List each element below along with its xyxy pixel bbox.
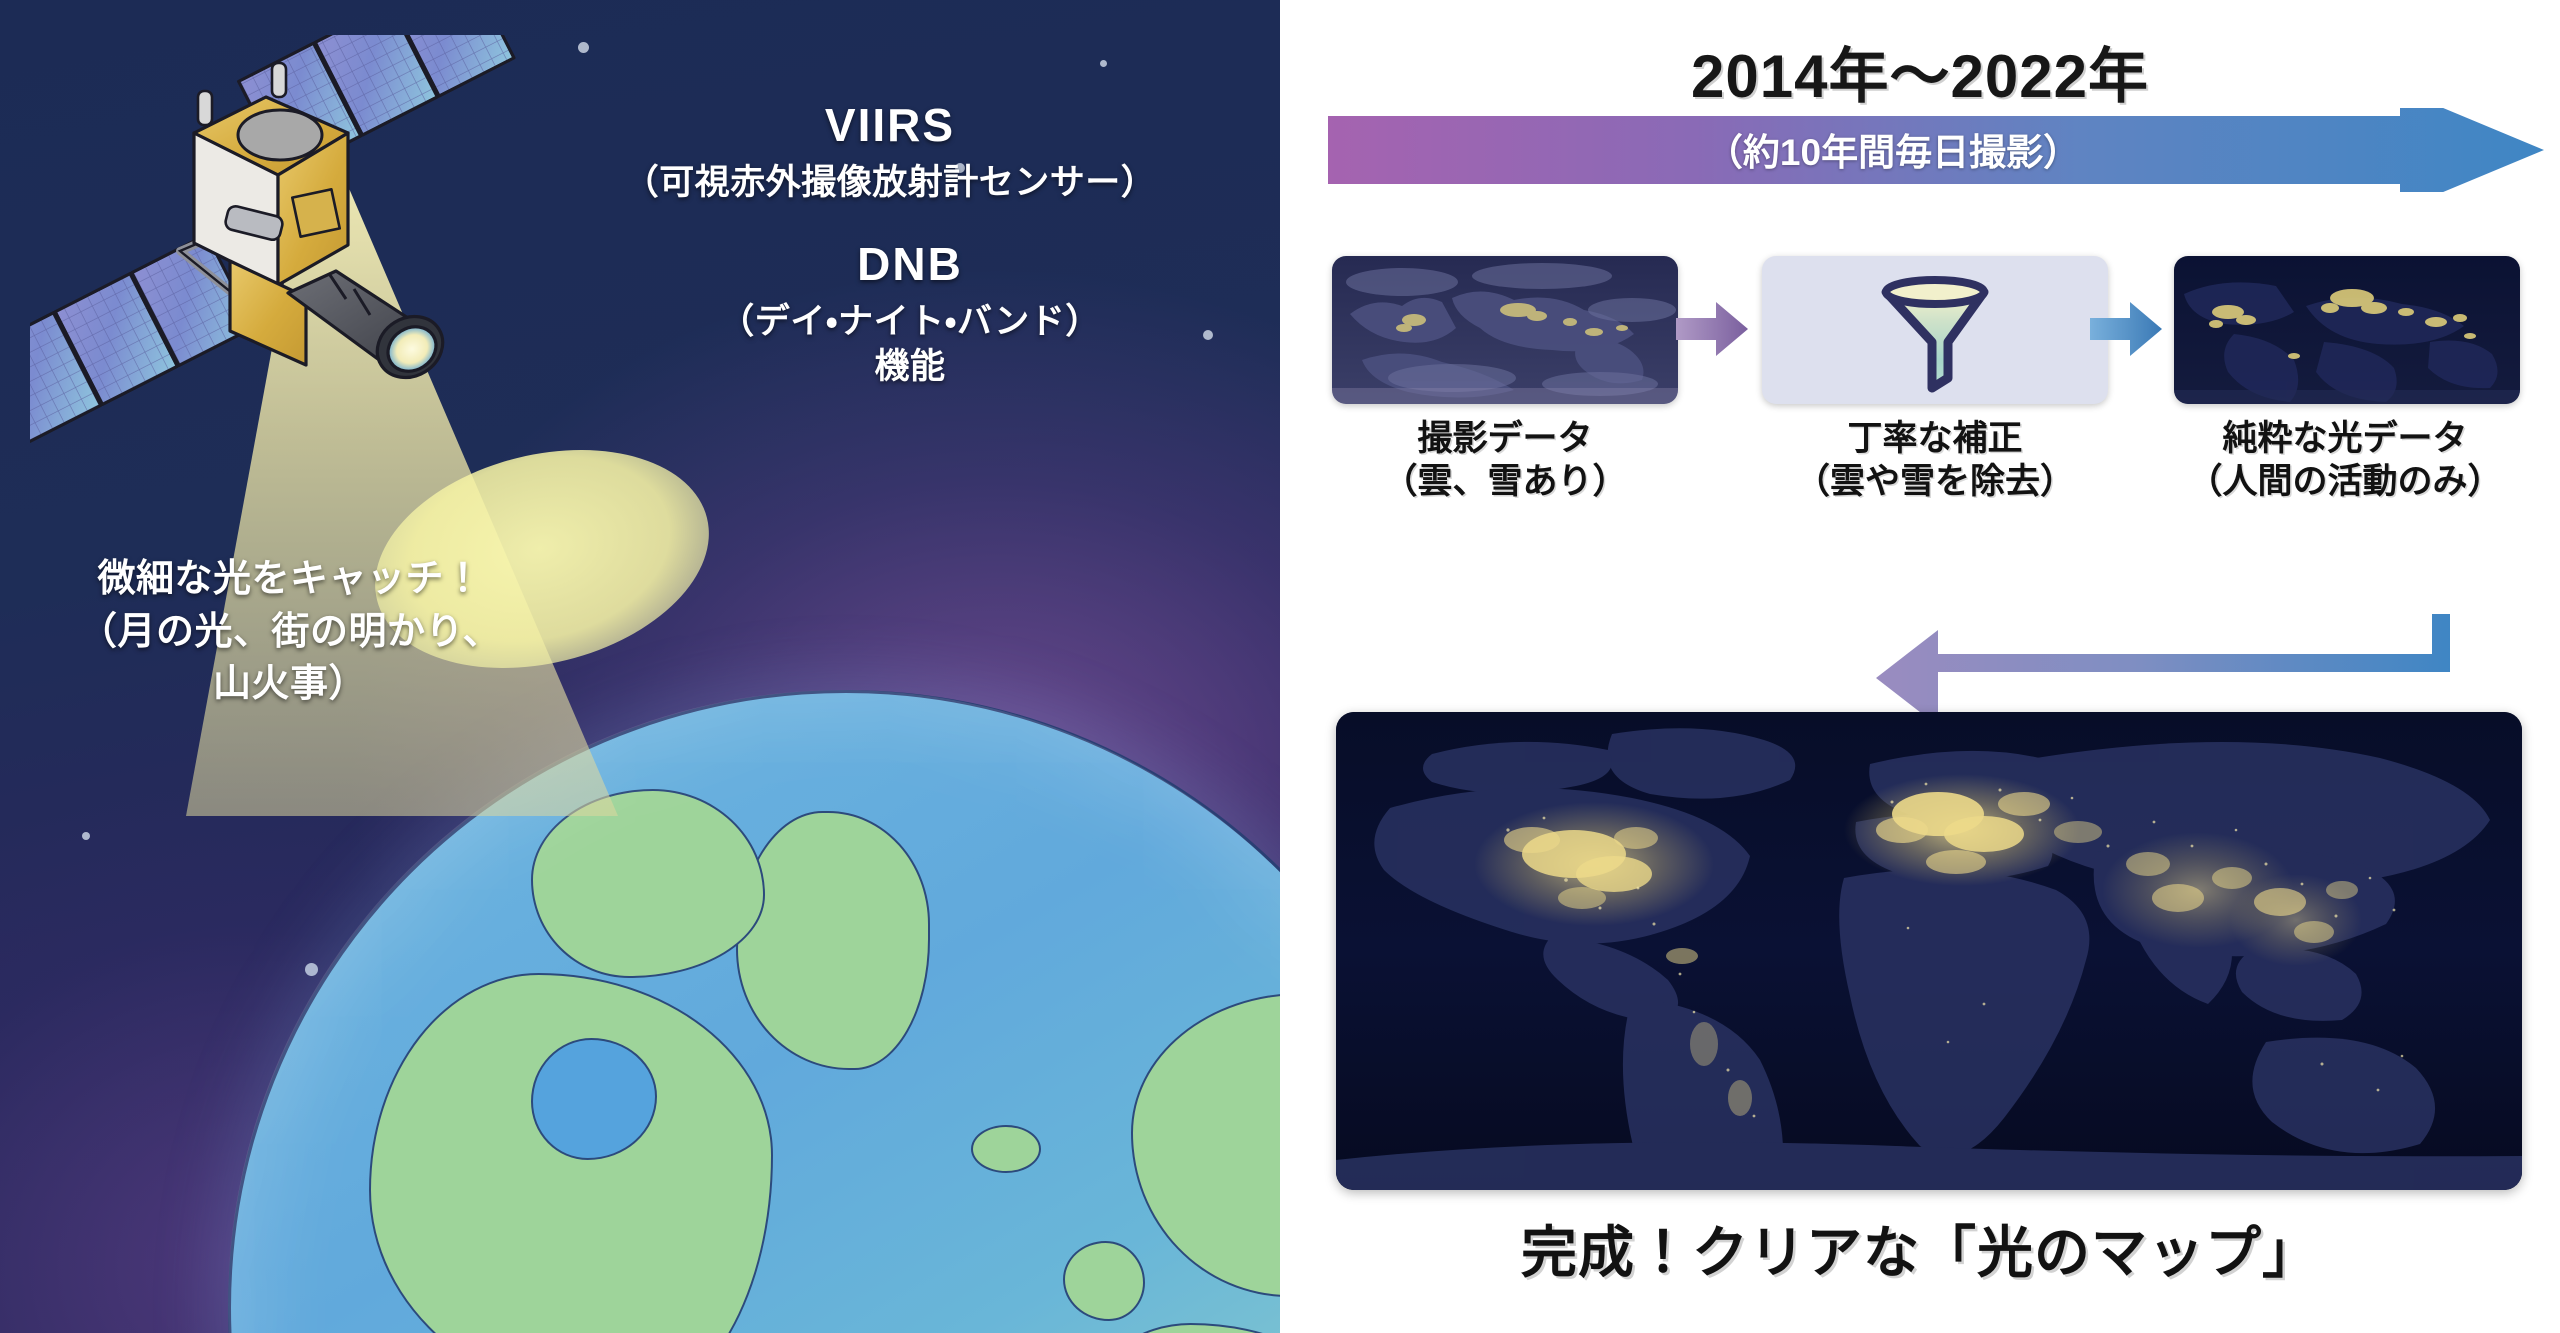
landmass-arctic-islands — [531, 789, 765, 978]
catch-line-2: （月の光、街の明かり、 — [10, 608, 570, 657]
step-3-caption: 純粋な光データ （人間の活動のみ） — [2145, 418, 2545, 503]
step-1-caption-line-2: （雲、雪あり） — [1305, 461, 1705, 504]
world-night-lights-final-map-icon — [1336, 712, 2522, 1190]
landmass-british-isles — [1063, 1241, 1145, 1321]
landmass-europe — [1131, 993, 1280, 1297]
viirs-title: VIIRS — [560, 96, 1220, 155]
catch-line-1: 微細な光をキャッチ！ — [10, 555, 570, 604]
viirs-label-block: VIIRS （可視赤外撮像放射計センサー） — [560, 96, 1220, 206]
dnb-title: DNB — [600, 235, 1220, 294]
step-3-caption-line-1: 純粋な光データ — [2145, 418, 2545, 461]
dnb-subtitle: （デイ・ナイト・バンド） — [600, 300, 1220, 345]
final-caption: 完成！クリアな「光のマップ」 — [1280, 1208, 2560, 1289]
viirs-subtitle: （可視赤外撮像放射計センサー） — [560, 161, 1220, 206]
landmass-greenland — [736, 811, 930, 1070]
left-panel-satellite-scene: VIIRS （可視赤外撮像放射計センサー） DNB （デイ・ナイト・バンド） 機… — [0, 0, 1280, 1333]
landmass-iberia — [1093, 1323, 1280, 1333]
step-1-caption-line-1: 撮影データ — [1305, 418, 1705, 461]
step-3-caption-line-2: （人間の活動のみ） — [2145, 461, 2545, 504]
satellite-icon — [30, 35, 590, 455]
dnb-label-block: DNB （デイ・ナイト・バンド） 機能 — [600, 235, 1220, 389]
star-icon — [1100, 60, 1107, 67]
right-panel-process-flow: 2014年〜2022年 （約10年間毎日撮影） — [1280, 0, 2560, 1333]
step-2-caption-line-2: （雲や雪を除去） — [1735, 461, 2135, 504]
step-2-caption: 丁率な補正 （雲や雪を除去） — [1735, 418, 2135, 503]
world-night-lights-with-clouds-icon — [1332, 256, 1678, 404]
timeline-label: （約10年間毎日撮影） — [1328, 122, 2458, 176]
catch-line-3: 山火事） — [10, 660, 570, 709]
period-title: 2014年〜2022年 — [1280, 28, 2560, 115]
funnel-filter-card — [1762, 256, 2108, 404]
catch-label-block: 微細な光をキャッチ！ （月の光、街の明かり、 山火事） — [10, 555, 570, 709]
star-icon — [305, 963, 318, 976]
star-icon — [82, 832, 90, 840]
earth-globe-icon — [228, 690, 1280, 1333]
arrow-right-blue-icon — [2090, 300, 2162, 358]
infographic-root: VIIRS （可視赤外撮像放射計センサー） DNB （デイ・ナイト・バンド） 機… — [0, 0, 2560, 1333]
world-night-lights-clean-icon — [2174, 256, 2520, 404]
step-2-caption-line-1: 丁率な補正 — [1735, 418, 2135, 461]
dnb-subtitle-2: 機能 — [600, 345, 1220, 390]
arrow-right-purple-icon — [1676, 300, 1748, 358]
landmass-iceland — [971, 1125, 1041, 1173]
step-1-caption: 撮影データ （雲、雪あり） — [1305, 418, 1705, 503]
funnel-filter-icon — [1762, 256, 2108, 404]
